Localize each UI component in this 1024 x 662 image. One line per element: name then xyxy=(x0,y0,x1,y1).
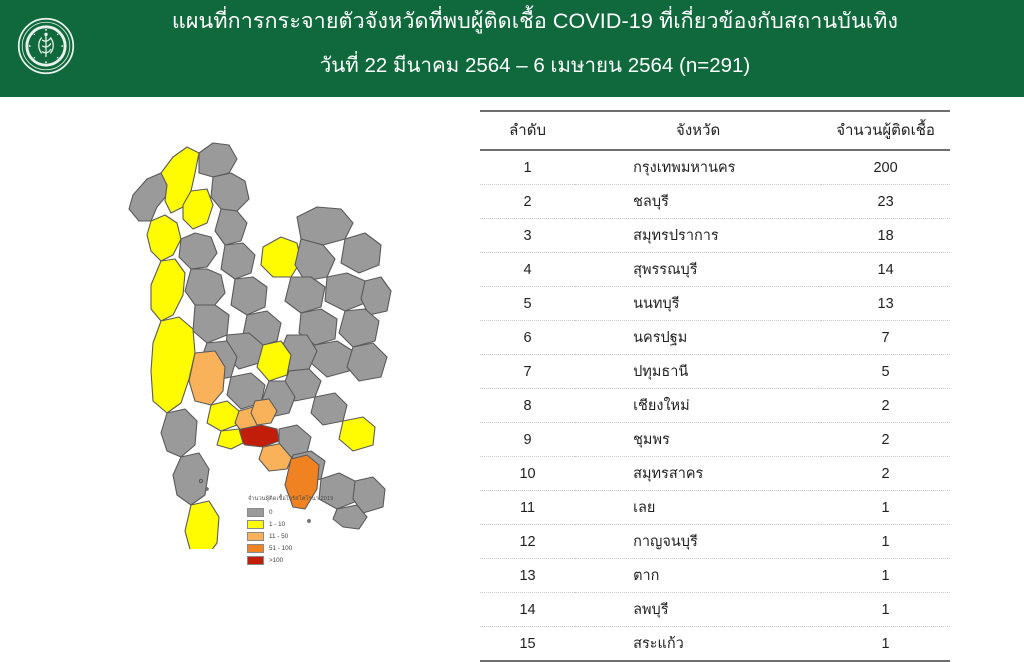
header-text-block: แผนที่การกระจายตัวจังหวัดที่พบผู้ติดเชื้… xyxy=(95,6,975,81)
cell-rank: 14 xyxy=(480,593,575,627)
cell-count: 1 xyxy=(821,593,950,627)
cell-province: เชียงใหม่ xyxy=(575,389,821,423)
table-row: 15 สระแก้ว 1 xyxy=(480,627,950,662)
cell-rank: 15 xyxy=(480,627,575,662)
province-suphan-buri xyxy=(189,351,225,405)
cell-province: ลพบุรี xyxy=(575,593,821,627)
legend-label-4: >100 xyxy=(269,557,283,564)
province-isan-gray-2 xyxy=(295,239,335,281)
column-header-count: จำนวนผู้ติดเชื้อ xyxy=(821,111,950,150)
legend-swatch-2 xyxy=(247,532,264,541)
province-chiang-rai xyxy=(199,143,237,177)
cell-province: ชุมพร xyxy=(575,423,821,457)
cell-rank: 1 xyxy=(480,150,575,185)
cell-province: สุพรรณบุรี xyxy=(575,253,821,287)
legend-label-0: 0 xyxy=(269,509,273,516)
legend-item-1: 1 - 10 xyxy=(247,519,367,530)
table-row: 8 เชียงใหม่ 2 xyxy=(480,389,950,423)
cell-rank: 6 xyxy=(480,321,575,355)
table-row: 4 สุพรรณบุรี 14 xyxy=(480,253,950,287)
table-row: 6 นครปฐม 7 xyxy=(480,321,950,355)
province-north-gray-8 xyxy=(193,305,229,343)
legend-swatch-3 xyxy=(247,544,264,553)
table-row: 11 เลย 1 xyxy=(480,491,950,525)
province-bangkok xyxy=(237,425,279,447)
province-lopburi xyxy=(257,341,291,381)
legend-item-2: 11 - 50 xyxy=(247,531,367,542)
legend-swatch-4 xyxy=(247,556,264,565)
cell-province: นครปฐม xyxy=(575,321,821,355)
legend-swatch-1 xyxy=(247,520,264,529)
province-phetchaburi xyxy=(161,409,197,457)
legend-label-3: 51 - 100 xyxy=(269,545,292,552)
cell-count: 7 xyxy=(821,321,950,355)
thailand-choropleth-map xyxy=(95,129,395,549)
column-header-rank: ลำดับ xyxy=(480,111,575,150)
cell-rank: 10 xyxy=(480,457,575,491)
map-island-dot-1 xyxy=(199,479,202,482)
cell-count: 1 xyxy=(821,627,950,662)
cell-rank: 4 xyxy=(480,253,575,287)
table-header-row: ลำดับ จังหวัด จำนวนผู้ติดเชื้อ xyxy=(480,111,950,150)
ministry-of-public-health-seal-icon xyxy=(17,17,75,75)
cell-rank: 7 xyxy=(480,355,575,389)
province-north-gray-7 xyxy=(231,277,267,315)
map-island-dot-2 xyxy=(206,488,208,490)
province-isan-gray-9 xyxy=(311,341,353,377)
table-row: 7 ปทุมธานี 5 xyxy=(480,355,950,389)
cell-province: นนทบุรี xyxy=(575,287,821,321)
cell-rank: 5 xyxy=(480,287,575,321)
table-row: 12 กาญจนบุรี 1 xyxy=(480,525,950,559)
province-case-table-container: ลำดับ จังหวัด จำนวนผู้ติดเชื้อ 1 กรุงเทพ… xyxy=(480,110,950,662)
cell-count: 18 xyxy=(821,219,950,253)
cell-rank: 3 xyxy=(480,219,575,253)
table-row: 2 ชลบุรี 23 xyxy=(480,185,950,219)
cell-province: สมุทรปราการ xyxy=(575,219,821,253)
province-chumphon xyxy=(185,501,219,549)
province-east-gray-1 xyxy=(311,393,347,425)
page-title: แผนที่การกระจายตัวจังหวัดที่พบผู้ติดเชื้… xyxy=(95,6,975,36)
province-kanchanaburi xyxy=(151,317,195,413)
cell-rank: 8 xyxy=(480,389,575,423)
province-isan-gray-5 xyxy=(325,273,365,311)
cell-province: สมุทรสาคร xyxy=(575,457,821,491)
province-mae-hong-son xyxy=(147,215,181,261)
legend-item-0: 0 xyxy=(247,507,367,518)
cell-rank: 12 xyxy=(480,525,575,559)
cell-count: 23 xyxy=(821,185,950,219)
province-north-gray-3 xyxy=(215,209,247,245)
cell-province: ชลบุรี xyxy=(575,185,821,219)
legend-item-3: 51 - 100 xyxy=(247,543,367,554)
page-subtitle: วันที่ 22 มีนาคม 2564 – 6 เมษายน 2564 (n… xyxy=(95,51,975,81)
table-row: 10 สมุทรสาคร 2 xyxy=(480,457,950,491)
cell-count: 5 xyxy=(821,355,950,389)
legend-swatch-0 xyxy=(247,508,264,517)
cell-count: 14 xyxy=(821,253,950,287)
legend-label-1: 1 - 10 xyxy=(269,521,285,528)
province-isan-gray-3 xyxy=(341,233,381,273)
map-legend: จำนวนผู้ติดเชื้อไวรัสโคโรนา 2019 0 1 - 1… xyxy=(247,495,367,567)
cell-rank: 2 xyxy=(480,185,575,219)
province-isan-gray-4 xyxy=(285,277,325,313)
map-panel: จำนวนผู้ติดเชื้อไวรัสโคโรนา 2019 0 1 - 1… xyxy=(0,97,470,576)
legend-item-4: >100 xyxy=(247,555,367,566)
province-north-gray-6 xyxy=(185,269,225,307)
province-north-gray-2 xyxy=(211,173,249,211)
cell-province: เลย xyxy=(575,491,821,525)
page-header: แผนที่การกระจายตัวจังหวัดที่พบผู้ติดเชื้… xyxy=(0,0,1024,97)
province-sa-kaeo xyxy=(339,417,375,451)
table-body: 1 กรุงเทพมหานคร 200 2 ชลบุรี 23 3 สมุทรป… xyxy=(480,150,950,661)
table-row: 5 นนทบุรี 13 xyxy=(480,287,950,321)
province-isan-gray-8 xyxy=(339,309,379,347)
province-case-table: ลำดับ จังหวัด จำนวนผู้ติดเชื้อ 1 กรุงเทพ… xyxy=(480,110,950,662)
province-isan-gray-10 xyxy=(347,343,387,381)
province-nakhon-pathom xyxy=(207,401,239,431)
cell-province: กาญจนบุรี xyxy=(575,525,821,559)
province-north-gray-4 xyxy=(179,233,217,269)
province-tak xyxy=(151,259,185,321)
cell-count: 200 xyxy=(821,150,950,185)
table-row: 14 ลพบุรี 1 xyxy=(480,593,950,627)
legend-title: จำนวนผู้ติดเชื้อไวรัสโคโรนา 2019 xyxy=(248,495,367,503)
cell-count: 13 xyxy=(821,287,950,321)
cell-count: 2 xyxy=(821,457,950,491)
cell-province: ปทุมธานี xyxy=(575,355,821,389)
cell-count: 2 xyxy=(821,389,950,423)
legend-label-2: 11 - 50 xyxy=(269,533,288,540)
cell-count: 2 xyxy=(821,423,950,457)
table-header: ลำดับ จังหวัด จำนวนผู้ติดเชื้อ xyxy=(480,111,950,150)
cell-count: 1 xyxy=(821,491,950,525)
column-header-province: จังหวัด xyxy=(575,111,821,150)
cell-rank: 11 xyxy=(480,491,575,525)
table-row: 1 กรุงเทพมหานคร 200 xyxy=(480,150,950,185)
province-north-gray-5 xyxy=(221,243,255,279)
cell-province: สระแก้ว xyxy=(575,627,821,662)
cell-rank: 9 xyxy=(480,423,575,457)
table-row: 9 ชุมพร 2 xyxy=(480,423,950,457)
province-samut-sakhon xyxy=(217,429,243,449)
cell-count: 1 xyxy=(821,525,950,559)
province-loei xyxy=(261,237,301,277)
province-south-gray-1 xyxy=(173,453,209,505)
table-row: 3 สมุทรปราการ 18 xyxy=(480,219,950,253)
cell-province: กรุงเทพมหานคร xyxy=(575,150,821,185)
